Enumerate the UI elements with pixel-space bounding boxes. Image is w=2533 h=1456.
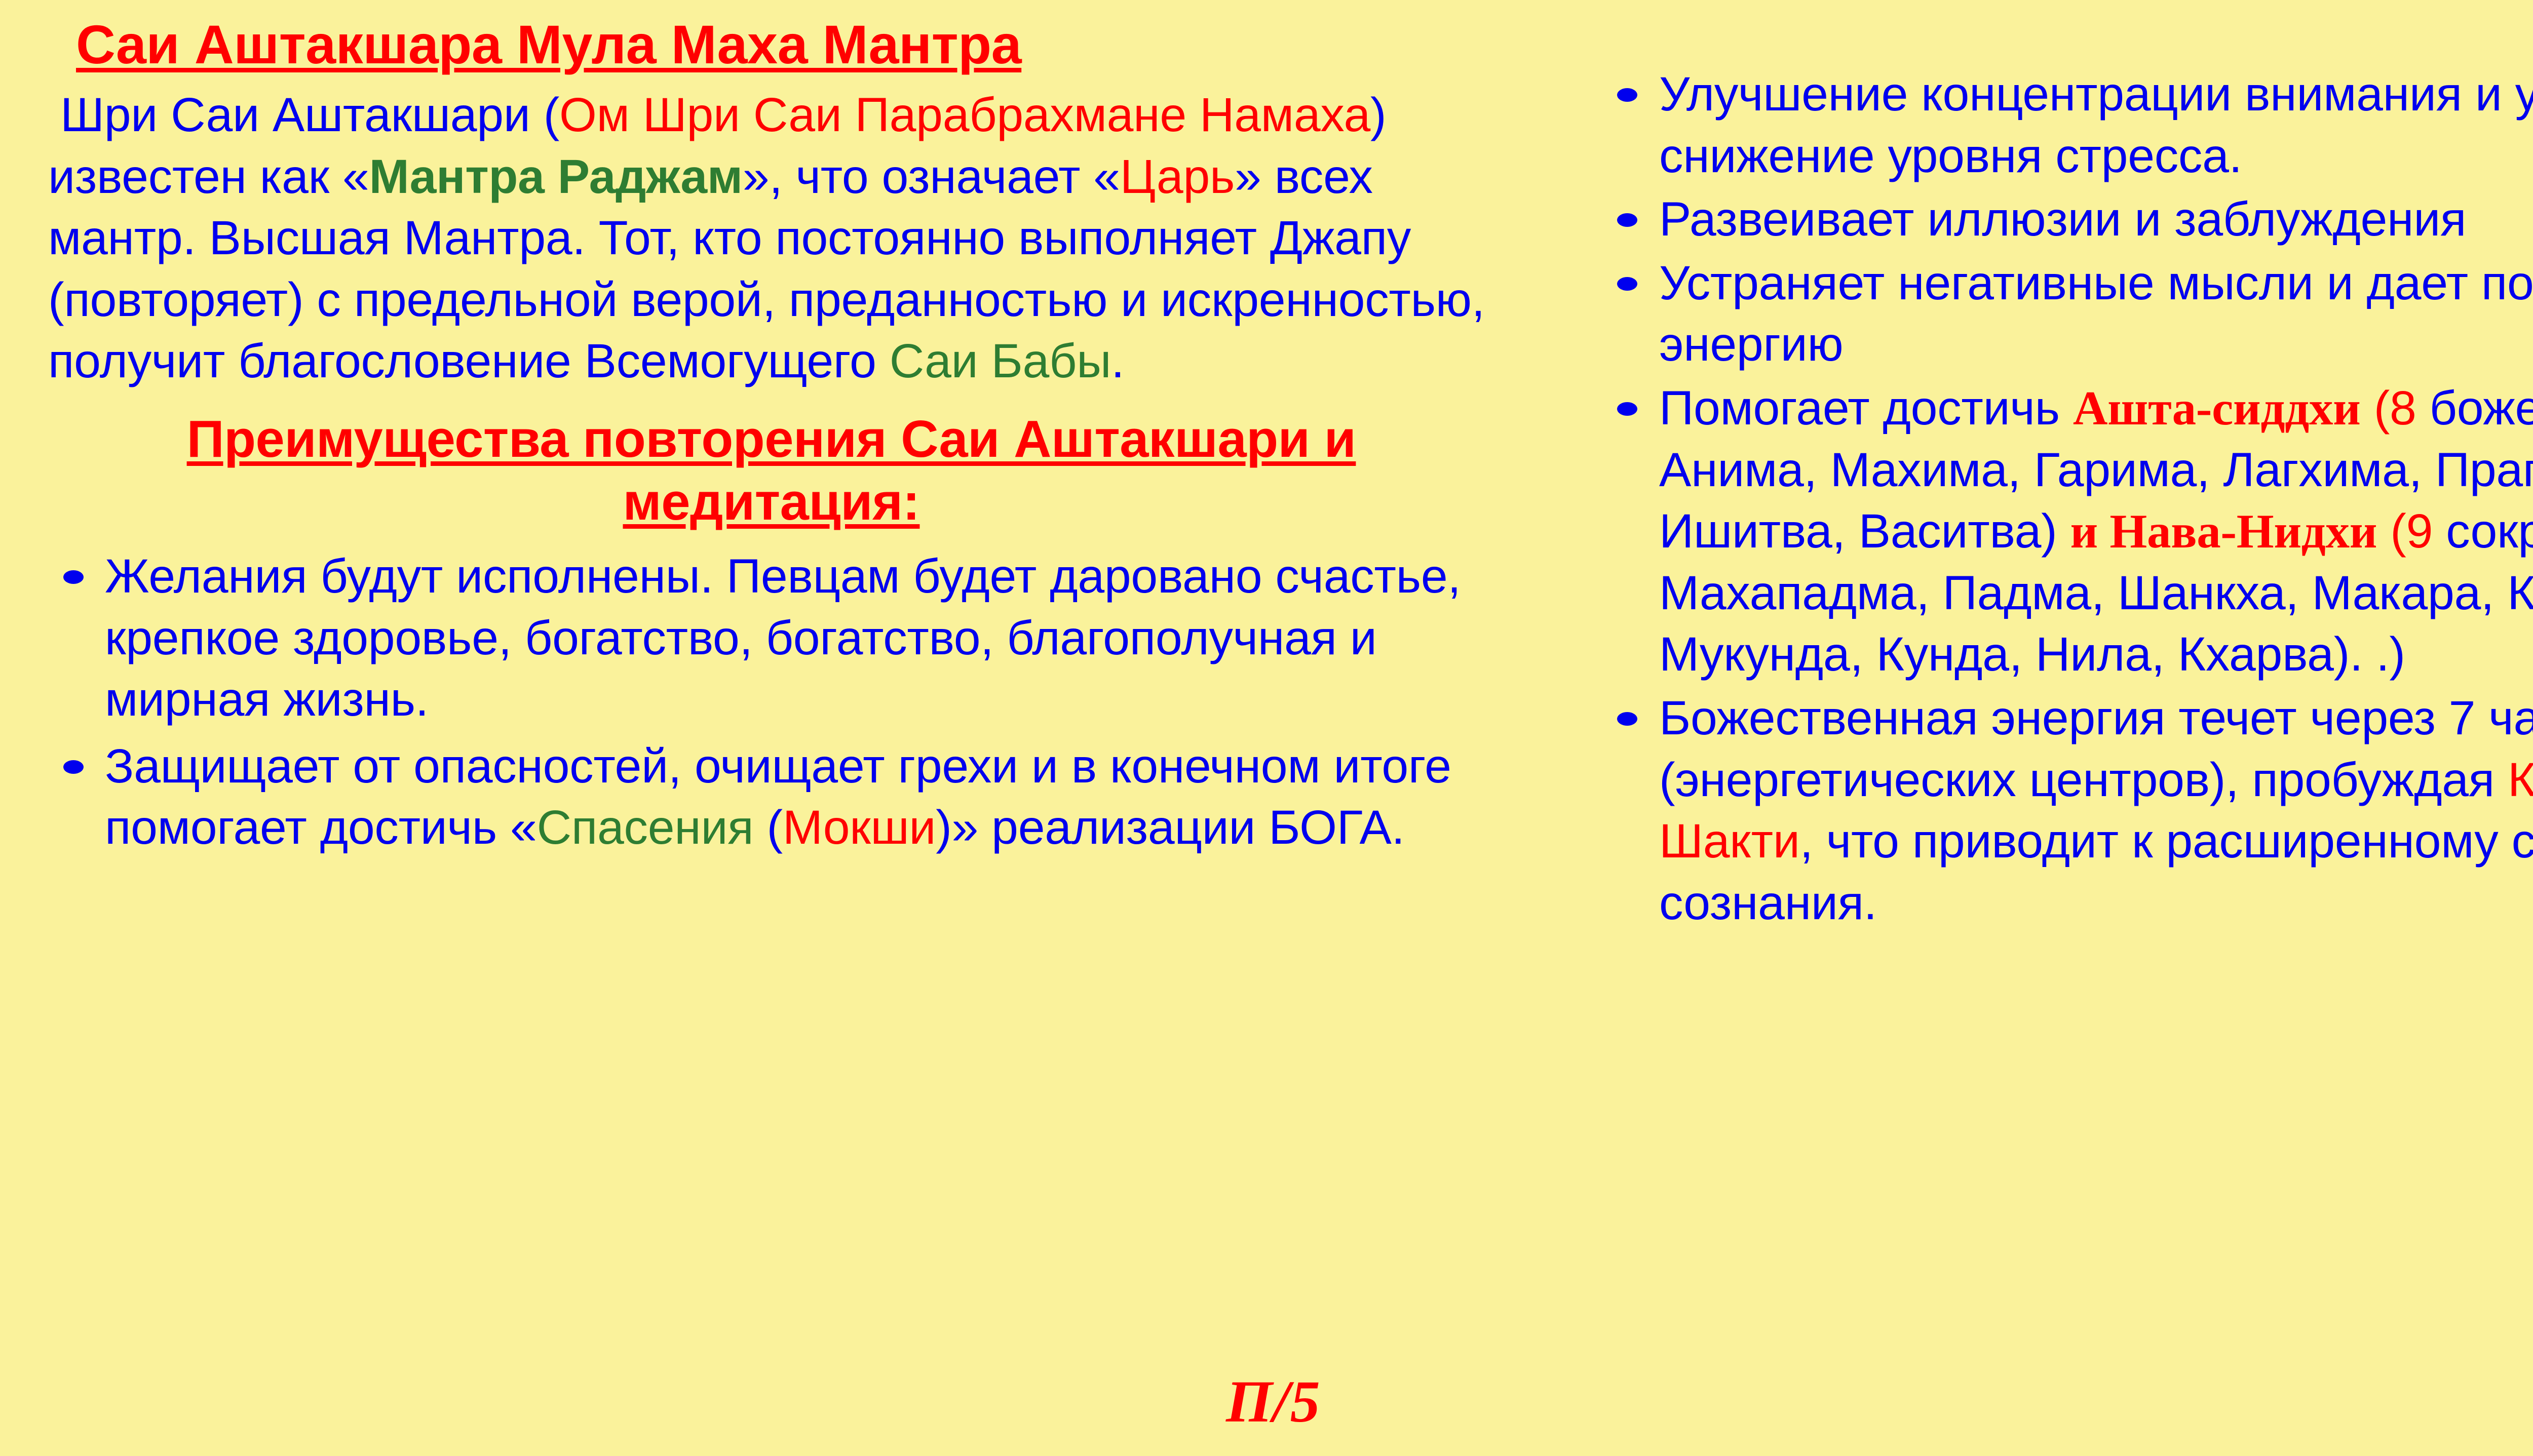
bullet-segment-red: (8 [2361, 381, 2416, 435]
bullet-segment: Улучшение концентрации внимания и уровня… [1659, 67, 2533, 183]
list-item: Помогает достичь Ашта-сиддхи (8 божестве… [1606, 378, 2533, 686]
paragraph-segment-red: Царь [1120, 150, 1235, 204]
left-bullet-list: Желания будут исполнены. Певцам будет да… [48, 546, 1505, 859]
bullet-segment: ( [753, 801, 782, 854]
list-item: Устраняет негативные мысли и дает положи… [1606, 253, 2533, 376]
slide: Саи Аштакшара Мула Маха Мантра Шри Саи А… [0, 0, 2533, 1456]
bullet-segment-red: Мокши [783, 801, 936, 854]
list-item: Улучшение концентрации внимания и уровня… [1606, 64, 2533, 187]
paragraph-segment: Шри Саи Аштакшари ( [60, 88, 559, 142]
list-item: Божественная энергия течет через 7 чакр … [1606, 688, 2533, 934]
left-heading-primary: Саи Аштакшара Мула Маха Мантра [76, 14, 1505, 75]
left-column: Саи Аштакшара Мула Маха Мантра Шри Саи А… [0, 0, 1565, 864]
bullet-segment-green: Спасения [537, 801, 754, 854]
paragraph-segment: . [1111, 334, 1124, 388]
intro-paragraph: Шри Саи Аштакшари (Ом Шри Саи Парабрахма… [48, 85, 1505, 392]
list-item: Желания будут исполнены. Певцам будет да… [48, 546, 1505, 731]
list-item: Защищает от опасностей, очищает грехи и … [48, 736, 1505, 859]
bullet-segment: Желания будут исполнены. Певцам будет да… [105, 549, 1461, 726]
list-item: Развеивает иллюзии и заблуждения [1606, 189, 2533, 251]
paragraph-segment-red: Ом Шри Саи Парабрахмане Намаха [559, 88, 1370, 142]
bullet-segment: Помогает достичь [1659, 381, 2073, 435]
bullet-segment-red: (9 [2377, 504, 2433, 558]
page-marker-left: П/5 [1226, 1367, 1321, 1436]
paragraph-segment-green: Саи Бабы [890, 334, 1111, 388]
bullet-segment-red-bold: Ашта-сиддхи [2073, 381, 2361, 435]
paragraph-segment: », что означает « [743, 150, 1120, 204]
bullet-segment: Развеивает иллюзии и заблуждения [1659, 192, 2466, 246]
bullet-segment: )» реализации БОГА. [936, 801, 1405, 854]
bullet-segment: Устраняет негативные мысли и дает положи… [1659, 256, 2533, 372]
right-bullet-list: Улучшение концентрации внимания и уровня… [1606, 64, 2533, 934]
bullet-segment: Божественная энергия течет через 7 чакр … [1659, 691, 2533, 807]
bullet-segment-red-bold: и Нава-Нидхи [2070, 504, 2377, 558]
right-column: Улучшение концентрации внимания и уровня… [1565, 0, 2533, 936]
paragraph-segment-green: Мантра Раджам [369, 150, 743, 204]
left-heading-secondary: Преимущества повторения Саи Аштакшари и … [38, 408, 1505, 533]
